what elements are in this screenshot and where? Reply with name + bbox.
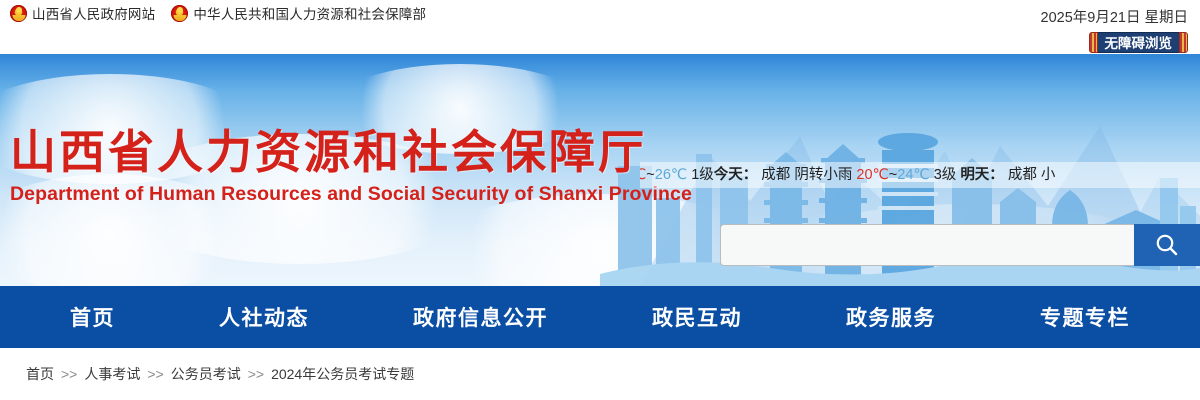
nav-item-news[interactable]: 人社动态 xyxy=(219,302,309,332)
weather-segment: 成都 小 xyxy=(1004,167,1056,183)
weather-segment: 24℃ xyxy=(897,167,929,183)
breadcrumb-inner: 首页>>人事考试>>公务员考试>>2024年公务员考试专题 xyxy=(26,364,414,384)
weather-segment: 明天： xyxy=(960,167,1004,183)
weather-segment: 成都 阴转小雨 xyxy=(757,167,856,183)
breadcrumb-item[interactable]: 公务员考试 xyxy=(171,364,241,384)
nav-item-home[interactable]: 首页 xyxy=(70,302,115,332)
gov-link-shanxi-government[interactable]: 山西省人民政府网站 xyxy=(10,3,155,23)
gov-link-label: 中华人民共和国人力资源和社会保障部 xyxy=(193,3,426,23)
weather-text: ℃~26℃ 1级今天： 成都 阴转小雨 20℃~24℃ 3级 明天： 成都 小 xyxy=(640,162,1055,188)
gov-link-label: 山西省人民政府网站 xyxy=(32,3,155,23)
page-title: 山西省人力资源和社会保障厅 xyxy=(10,128,692,176)
accessibility-badge[interactable]: 无障碍浏览 xyxy=(1089,32,1189,53)
main-navigation: 首页 人社动态 政府信息公开 政民互动 政务服务 专题专栏 xyxy=(0,286,1200,348)
weather-segment: 1级 xyxy=(687,167,714,183)
nav-item-services[interactable]: 政务服务 xyxy=(846,302,936,332)
weather-segment: 20℃ xyxy=(856,167,888,183)
nav-item-interaction[interactable]: 政民互动 xyxy=(652,302,742,332)
weather-segment: 26℃ xyxy=(655,167,687,183)
top-bar: 山西省人民政府网站 中华人民共和国人力资源和社会保障部 2025年9月21日 星… xyxy=(0,0,1200,54)
weather-segment: ~ xyxy=(646,167,654,183)
breadcrumb-item[interactable]: 人事考试 xyxy=(84,364,140,384)
search-input[interactable] xyxy=(720,224,1134,266)
scroll-ornament-right-icon xyxy=(1179,32,1188,53)
national-emblem-icon xyxy=(10,5,27,22)
banner: 山西省人力资源和社会保障厅 Department of Human Resour… xyxy=(0,54,1200,286)
scroll-ornament-left-icon xyxy=(1089,32,1098,53)
search-icon xyxy=(1154,232,1180,258)
breadcrumb-item: 2024年公务员考试专题 xyxy=(271,364,414,384)
breadcrumb-separator: >> xyxy=(248,366,264,382)
accessibility-badge-label: 无障碍浏览 xyxy=(1098,32,1180,53)
breadcrumb-item[interactable]: 首页 xyxy=(26,364,54,384)
weather-segment: 3级 xyxy=(930,167,961,183)
nav-item-disclosure[interactable]: 政府信息公开 xyxy=(413,302,548,332)
page-root: 山西省人民政府网站 中华人民共和国人力资源和社会保障部 2025年9月21日 星… xyxy=(0,0,1200,400)
gov-links: 山西省人民政府网站 中华人民共和国人力资源和社会保障部 xyxy=(10,3,426,23)
breadcrumb: 首页>>人事考试>>公务员考试>>2024年公务员考试专题 xyxy=(0,348,1200,400)
national-emblem-icon xyxy=(171,5,188,22)
breadcrumb-separator: >> xyxy=(61,366,77,382)
current-date: 2025年9月21日 星期日 xyxy=(1041,6,1188,27)
search-button[interactable] xyxy=(1134,224,1200,266)
nav-item-topics[interactable]: 专题专栏 xyxy=(1040,302,1130,332)
page-title-english: Department of Human Resources and Social… xyxy=(10,183,692,206)
weather-segment: ~ xyxy=(889,167,897,183)
weather-segment: 今天： xyxy=(714,167,758,183)
search-bar xyxy=(720,224,1200,266)
site-title-block: 山西省人力资源和社会保障厅 Department of Human Resour… xyxy=(10,128,692,206)
main-navigation-inner: 首页 人社动态 政府信息公开 政民互动 政务服务 专题专栏 xyxy=(30,302,1170,332)
breadcrumb-separator: >> xyxy=(147,366,163,382)
gov-link-mohrss[interactable]: 中华人民共和国人力资源和社会保障部 xyxy=(171,3,426,23)
weather-marquee: ℃~26℃ 1级今天： 成都 阴转小雨 20℃~24℃ 3级 明天： 成都 小 xyxy=(640,162,1200,188)
